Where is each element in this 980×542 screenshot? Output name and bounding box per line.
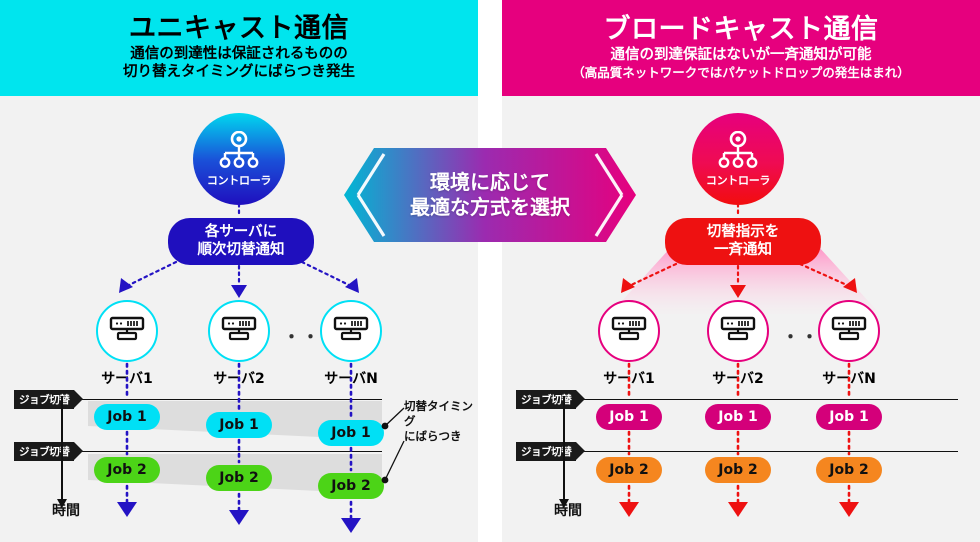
broadcast-title: ブロードキャスト通信 [604, 16, 879, 45]
unicast-subtitle-line2: 切り替えタイミングにばらつき発生 [123, 64, 355, 80]
center-callout-line1: 環境に応じて [430, 170, 550, 195]
broadcast-subtitle-line1: 通信の到達保証はないが一斉通知が可能 [610, 47, 871, 63]
center-callout-text: 環境に応じて 最適な方式を選択 [344, 146, 636, 244]
center-callout-line2: 最適な方式を選択 [410, 195, 570, 220]
unicast-header: ユニキャスト通信 通信の到達性は保証されるものの 切り替えタイミングにばらつき発… [0, 0, 478, 96]
unicast-subtitle: 通信の到達性は保証されるものの 切り替えタイミングにばらつき発生 [123, 45, 355, 81]
broadcast-subtitle-line2: （高品質ネットワークではパケットドロップの発生はまれ） [572, 65, 910, 81]
broadcast-subtitle: 通信の到達保証はないが一斉通知が可能 （高品質ネットワークではパケットドロップの… [572, 46, 910, 80]
center-callout: 環境に応じて 最適な方式を選択 [344, 146, 636, 244]
unicast-title: ユニキャスト通信 [129, 15, 349, 44]
unicast-panel: ユニキャスト通信 通信の到達性は保証されるものの 切り替えタイミングにばらつき発… [0, 0, 478, 542]
broadcast-panel: ブロードキャスト通信 通信の到達保証はないが一斉通知が可能 （高品質ネットワーク… [502, 0, 980, 542]
diagram-root: ユニキャスト通信 通信の到達性は保証されるものの 切り替えタイミングにばらつき発… [0, 0, 980, 542]
broadcast-header: ブロードキャスト通信 通信の到達保証はないが一斉通知が可能 （高品質ネットワーク… [502, 0, 980, 96]
unicast-subtitle-line1: 通信の到達性は保証されるものの [130, 46, 348, 62]
